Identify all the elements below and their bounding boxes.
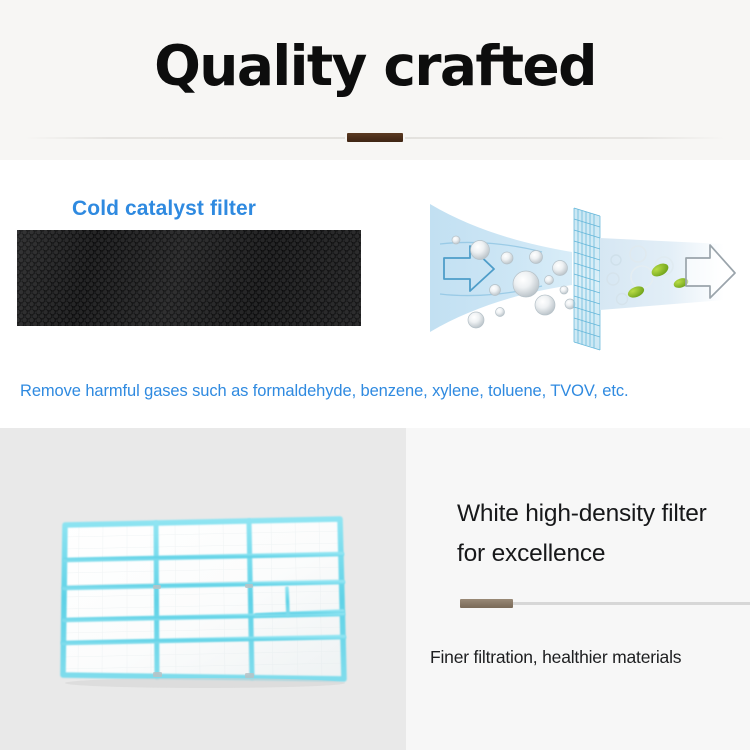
cold-catalyst-title: Cold catalyst filter [72, 197, 256, 221]
cold-catalyst-caption: Remove harmful gases such as formaldehyd… [20, 382, 735, 401]
white-high-density-filter-image [55, 503, 350, 688]
page-title: Quality crafted [0, 31, 750, 101]
white-filter-headline-line2: for excellence [457, 534, 747, 574]
white-filter-text-panel [406, 428, 750, 750]
cold-catalyst-section: Cold catalyst filter [0, 160, 750, 428]
hero-banner: Quality crafted [0, 0, 750, 160]
white-filter-section [0, 428, 750, 750]
honeycomb-filter-image [17, 230, 361, 326]
product-feature-page: Quality crafted Cold catalyst filter [0, 0, 750, 750]
white-filter-headline-line1: White high-density filter [457, 494, 747, 534]
filter-mesh-screen [574, 208, 600, 350]
white-filter-image-panel [0, 428, 406, 750]
white-filter-headline: White high-density filter for excellence [457, 494, 747, 574]
white-filter-subtext: Finer filtration, healthier materials [430, 647, 750, 668]
hero-accent-bar [347, 133, 403, 142]
filtration-diagram [404, 182, 740, 352]
honeycomb-sheen [17, 230, 361, 326]
white-filter-accent-bar [460, 599, 513, 608]
